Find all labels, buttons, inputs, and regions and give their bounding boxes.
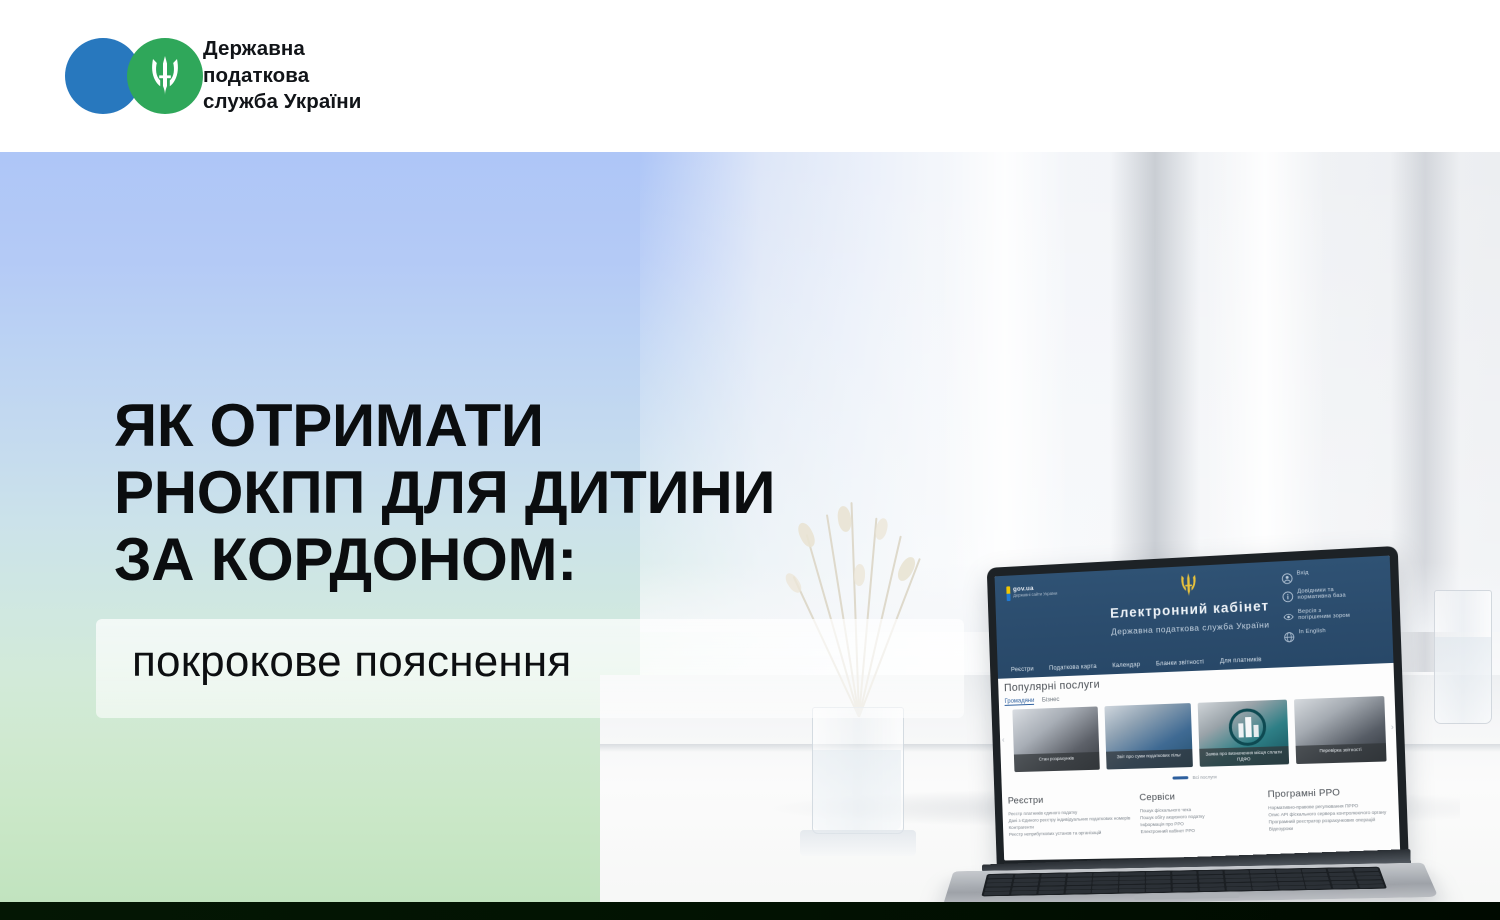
laptop-keyboard	[981, 867, 1387, 897]
ukraine-trident-gold-icon	[1178, 572, 1199, 604]
service-card-caption: Перевірка звітності	[1295, 743, 1386, 764]
vase-water	[813, 750, 901, 830]
gov-ua-flag-icon	[1006, 586, 1010, 601]
logo-marks	[65, 38, 193, 114]
popular-services-title: Популярні послуги	[1004, 679, 1100, 695]
magnifier-icon	[1223, 706, 1277, 752]
column-link[interactable]: Відеоуроки	[1269, 823, 1391, 833]
nav-item-tax-map[interactable]: Податкова карта	[1049, 663, 1097, 671]
chevron-right-icon[interactable]: ›	[1391, 722, 1394, 731]
vase-base	[800, 830, 916, 856]
nav-item-for-taxpayers[interactable]: Для платників	[1220, 657, 1262, 665]
site-header-band: Державна податкова служба України	[0, 0, 1500, 152]
water-glass	[1434, 590, 1492, 724]
column-link[interactable]: Реєстр неприбуткових установ та організа…	[1009, 828, 1131, 837]
gov-ua-logo-caption: Державні сайти України	[1013, 591, 1057, 599]
right-menu-item-reference[interactable]: Довідники та нормативна база	[1282, 585, 1381, 603]
column-prro: Програмні РРО Нормативно-правове регулюв…	[1268, 786, 1392, 833]
right-menu-label: Довідники та нормативна база	[1297, 586, 1346, 601]
chevron-left-icon[interactable]: ‹	[1002, 735, 1005, 744]
right-menu-label: Вхід	[1297, 570, 1309, 577]
carousel-active-bar	[1173, 776, 1189, 779]
column-registers: Реєстри Реєстр платників єдиного податку…	[1008, 793, 1131, 838]
site-body: Популярні послуги Громадяни Бізнес ‹ › С…	[998, 663, 1400, 861]
poster-root: gov.ua Державні сайти України	[0, 0, 1500, 920]
service-card-list: Стан розрахунків Звіт про суми податкови…	[1012, 696, 1386, 772]
gov-ua-logo[interactable]: gov.ua Державні сайти України	[1006, 584, 1057, 601]
right-menu-label: In English	[1299, 628, 1326, 636]
laptop-base	[943, 863, 1439, 907]
nav-item-report-forms[interactable]: Бланки звітності	[1156, 659, 1204, 667]
carousel-indicator[interactable]: Всі послуги	[1001, 769, 1397, 785]
info-circle-icon	[1282, 589, 1294, 601]
right-menu-item-login[interactable]: Вхід	[1281, 566, 1380, 582]
service-card-caption: Стан розрахунків	[1014, 752, 1099, 772]
water-level	[1435, 637, 1491, 723]
popular-services-tabs: Громадяни Бізнес	[1004, 696, 1059, 706]
laptop-lid: gov.ua Державні сайти України	[987, 546, 1409, 870]
footer-link-columns: Реєстри Реєстр платників єдиного податку…	[1008, 786, 1391, 838]
laptop: gov.ua Державні сайти України	[955, 557, 1425, 920]
column-services: Сервіси Пошук фіскального чека Пошук обі…	[1139, 789, 1259, 835]
nav-item-calendar[interactable]: Календар	[1112, 662, 1140, 669]
column-link[interactable]: Електронний кабінет РРО	[1140, 826, 1259, 835]
service-card[interactable]: Звіт про суми податкових пільг	[1104, 703, 1193, 769]
page-title: ЯК ОТРИМАТИ РНОКПП ДЛЯ ДИТИНИ ЗА КОРДОНО…	[114, 392, 775, 594]
site-right-menu: Вхід Довідники та нормативна база	[1281, 566, 1382, 647]
bottom-strip	[0, 902, 1500, 920]
logo-text: Державна податкова служба України	[203, 36, 361, 116]
service-card[interactable]: Стан розрахунків	[1012, 706, 1099, 772]
column-heading: Сервіси	[1139, 789, 1258, 803]
service-card-caption: Звіт про суми податкових пільг	[1106, 749, 1193, 769]
laptop-trackpad	[1134, 893, 1239, 900]
tab-business[interactable]: Бізнес	[1042, 696, 1060, 705]
ukraine-trident-icon	[127, 38, 203, 114]
service-card[interactable]: Заява про визначення місця сплати ПДФО	[1198, 700, 1289, 767]
column-heading: Реєстри	[1008, 793, 1130, 807]
tab-citizens[interactable]: Громадяни	[1004, 697, 1034, 706]
dps-logo[interactable]: Державна податкова служба України	[65, 36, 361, 116]
laptop-screen: gov.ua Державні сайти України	[995, 556, 1401, 861]
carousel-more-label[interactable]: Всі послуги	[1193, 774, 1217, 780]
eye-icon	[1283, 609, 1295, 621]
right-menu-item-english[interactable]: In English	[1283, 625, 1382, 640]
column-heading: Програмні РРО	[1268, 786, 1390, 800]
page-subtitle: покрокове пояснення	[132, 634, 571, 689]
nav-item-registers[interactable]: Реєстри	[1011, 666, 1034, 673]
service-card[interactable]: Перевірка звітності	[1293, 696, 1386, 764]
right-menu-label: Версія з погіршеним зором	[1298, 606, 1350, 621]
user-login-icon	[1281, 571, 1293, 583]
right-menu-item-accessibility[interactable]: Версія з погіршеним зором	[1283, 605, 1382, 623]
service-card-caption: Заява про визначення місця сплати ПДФО	[1199, 746, 1288, 767]
site-header: gov.ua Державні сайти України	[995, 556, 1394, 679]
globe-icon	[1283, 629, 1295, 641]
